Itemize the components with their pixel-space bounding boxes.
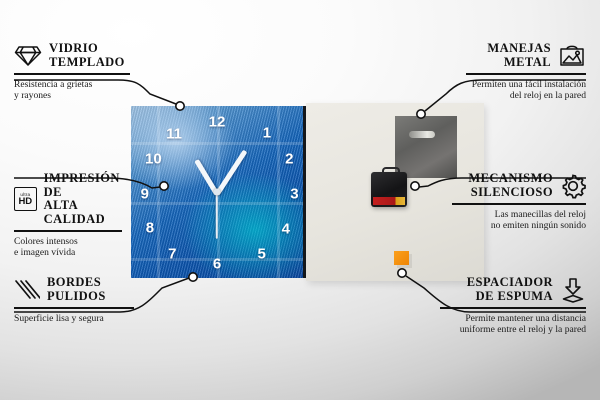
divider (440, 307, 586, 309)
divider (14, 307, 134, 309)
feature-description: Resistencia a grietas y rayones (14, 79, 130, 102)
foam-spacer-icon (560, 277, 586, 303)
clock-numeral-10: 10 (145, 152, 162, 167)
feature-manejas-metal[interactable]: MANEJAS METAL Permiten una fácil instala… (466, 42, 586, 101)
feature-bordes-pulidos[interactable]: BORDES PULIDOS Superficie lisa y segura (14, 276, 134, 324)
diamond-icon (14, 44, 42, 67)
clock-second-hand (216, 193, 218, 239)
clock-numeral-1: 1 (263, 126, 271, 141)
feature-title: MECANISMO SILENCIOSO (468, 172, 553, 199)
feature-description: Colores intensos e imagen vívida (14, 236, 122, 259)
feature-title: ESPACIADOR DE ESPUMA (467, 276, 553, 303)
product-front-view: 12 1 2 3 4 5 6 7 8 9 10 11 (131, 106, 307, 278)
metal-hanger-plate (395, 116, 457, 178)
polished-edges-icon (14, 278, 40, 301)
picture-hanger-icon (558, 44, 586, 68)
feature-impresion-alta-calidad[interactable]: ultra HD IMPRESIÓN DE ALTA CALIDAD Color… (14, 172, 122, 258)
gear-icon (560, 173, 586, 199)
clock-numeral-2: 2 (285, 152, 293, 167)
clock-numeral-9: 9 (141, 187, 149, 202)
mechanism-battery-label (373, 197, 405, 205)
infographic-canvas: 12 1 2 3 4 5 6 7 8 9 10 11 (0, 0, 600, 400)
feature-vidrio-templado[interactable]: VIDRIO TEMPLADO Resistencia a grietas y … (14, 42, 130, 101)
clock-center-hub (214, 189, 221, 196)
divider (466, 73, 586, 75)
ultra-hd-icon: ultra HD (14, 187, 37, 211)
feature-title: BORDES PULIDOS (47, 276, 106, 303)
clock-numeral-6: 6 (213, 257, 221, 272)
feature-description: Permiten una fácil instalación del reloj… (466, 79, 586, 102)
feature-mecanismo-silencioso[interactable]: MECANISMO SILENCIOSO Las manecillas del … (452, 172, 586, 231)
hanger-slot (409, 131, 435, 138)
clock-numeral-11: 11 (166, 127, 182, 142)
clock-numeral-4: 4 (282, 222, 290, 237)
clock-face: 12 1 2 3 4 5 6 7 8 9 10 11 (131, 106, 307, 278)
foam-spacer (394, 251, 409, 265)
feature-title: VIDRIO TEMPLADO (49, 42, 125, 69)
decor-line (277, 106, 280, 278)
clock-numeral-3: 3 (290, 187, 298, 202)
clock-numeral-5: 5 (258, 247, 266, 262)
divider (14, 73, 130, 75)
clock-numeral-8: 8 (146, 221, 154, 236)
feature-espaciador-espuma[interactable]: ESPACIADOR DE ESPUMA Permite mantener un… (440, 276, 586, 335)
clock-numeral-12: 12 (209, 115, 226, 130)
feature-description: Superficie lisa y segura (14, 313, 134, 324)
feature-title: MANEJAS METAL (487, 42, 551, 69)
divider (14, 230, 122, 232)
clock-numeral-7: 7 (168, 247, 176, 262)
ultra-hd-icon-bottom: HD (18, 197, 32, 207)
feature-title: IMPRESIÓN DE ALTA CALIDAD (44, 172, 122, 226)
feature-description: Permite mantener una distancia uniforme … (440, 313, 586, 336)
decor-line (157, 106, 160, 278)
divider (452, 203, 586, 205)
decor-line (131, 142, 303, 145)
feature-description: Las manecillas del reloj no emiten ningú… (452, 209, 586, 232)
